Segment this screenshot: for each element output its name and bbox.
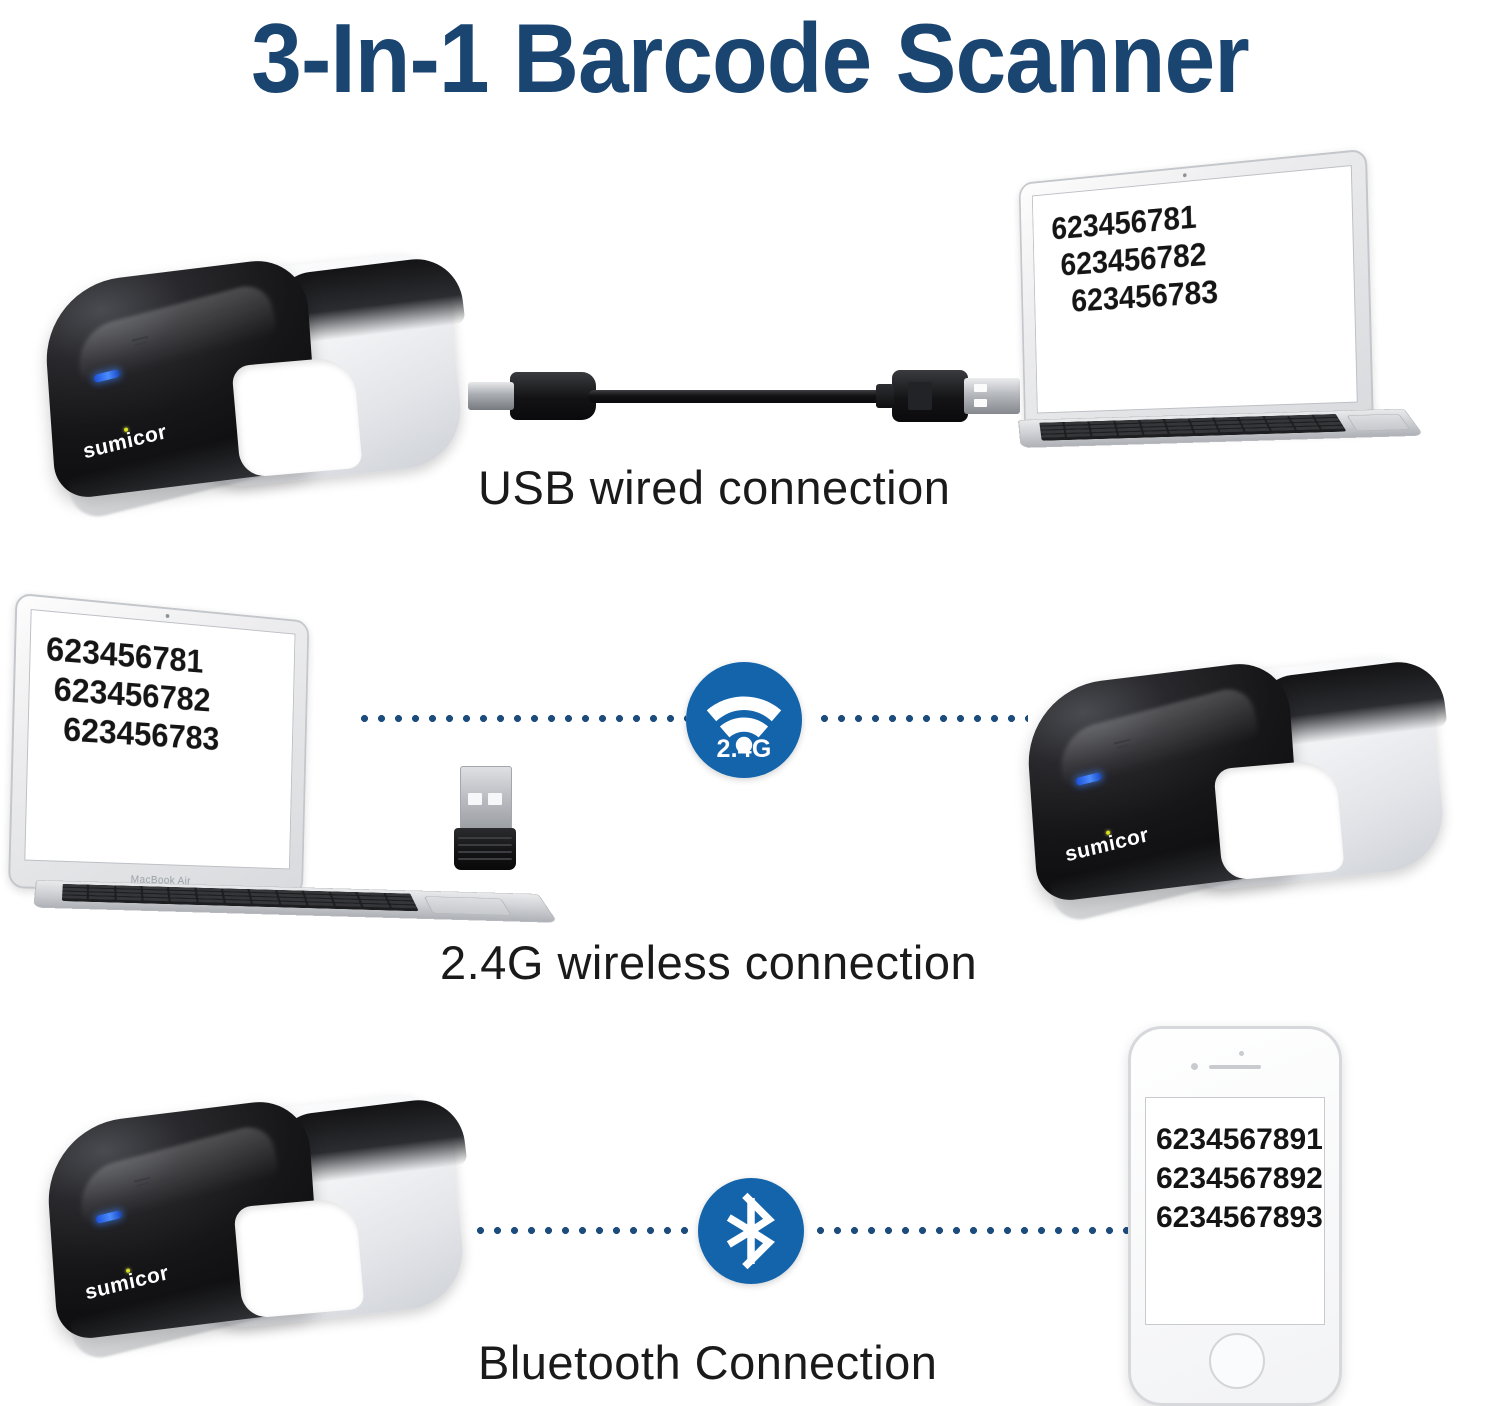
usb-receiver-dongle (454, 766, 516, 870)
laptop-usb: 623456781 623456782 623456783 MacBook Ai… (952, 148, 1422, 488)
usb-cable (468, 362, 1008, 432)
phone-sensor-icon (1239, 1051, 1244, 1056)
laptop-trackpad[interactable] (424, 896, 512, 915)
label-usb-wired-connection: USB wired connection (478, 460, 950, 515)
scanner-body: sumicor (42, 1086, 462, 1336)
dongle-connector (460, 766, 512, 834)
laptop-keyboard (1039, 414, 1346, 441)
label-bluetooth-connection: Bluetooth Connection (478, 1335, 937, 1390)
bluetooth-icon (698, 1178, 804, 1284)
bluetooth-link-dots-left (472, 1226, 692, 1235)
wireless-link-dots-right (816, 714, 1028, 723)
usb-plug-a-collar (876, 384, 894, 408)
dongle-body (454, 828, 516, 870)
laptop-trackpad[interactable] (1346, 414, 1410, 431)
infographic-canvas: 3-In-1 Barcode Scanner sumicor (0, 0, 1500, 1400)
laptop-base (33, 880, 558, 923)
wireless-link-dots-left (356, 714, 686, 723)
phone-camera-icon (1191, 1063, 1198, 1070)
phone-home-button[interactable] (1209, 1333, 1265, 1389)
scanner-body: sumicor (40, 245, 460, 495)
usb-plug-device-tip (468, 382, 514, 410)
phone-barcode-line: 6234567892 (1156, 1159, 1324, 1198)
barcode-scanner-usb: sumicor (40, 245, 460, 495)
bluetooth-link-dots-right (812, 1226, 1130, 1235)
page-title: 3-In-1 Barcode Scanner (53, 2, 1448, 115)
scanner-finger-hole (233, 1197, 364, 1319)
webcam-icon (166, 614, 170, 618)
phone-screen: 6234567891 6234567892 6234567893 (1145, 1097, 1325, 1325)
laptop-lid: 623456781 623456782 623456783 MacBook Ai… (8, 593, 309, 896)
laptop-keyboard (62, 884, 419, 911)
barcode-scanner-wireless: sumicor (1022, 648, 1442, 898)
usb-plug-device-end (510, 372, 596, 420)
smartphone: 6234567891 6234567892 6234567893 (1128, 1026, 1342, 1406)
badge-bluetooth (698, 1178, 804, 1284)
laptop-screen: 623456781 623456782 623456783 (1032, 165, 1358, 413)
phone-barcode-list: 6234567891 6234567892 6234567893 (1146, 1098, 1324, 1237)
phone-barcode-line: 6234567893 (1156, 1198, 1324, 1237)
webcam-icon (1183, 173, 1187, 177)
scanner-body: sumicor (1022, 648, 1442, 898)
badge-2-4g-label: 2.4G (686, 735, 802, 764)
scanner-finger-hole (231, 356, 362, 478)
laptop-lid: 623456781 623456782 623456783 MacBook Ai… (1019, 149, 1374, 440)
laptop-wireless: 623456781 623456782 623456783 MacBook Ai… (0, 592, 560, 932)
badge-2-4g: 2.4G (686, 662, 802, 778)
phone-barcode-line: 6234567891 (1156, 1120, 1324, 1159)
usb-plug-a-window (908, 382, 932, 410)
barcode-scanner-bluetooth: sumicor (42, 1086, 462, 1336)
screen-barcode-list: 623456781 623456782 623456783 (28, 610, 295, 764)
phone-earpiece-icon (1209, 1065, 1261, 1069)
label-2-4g-wireless-connection: 2.4G wireless connection (440, 935, 977, 990)
laptop-screen: 623456781 623456782 623456783 (24, 609, 295, 869)
screen-barcode-list: 623456781 623456782 623456783 (1033, 165, 1358, 322)
scanner-finger-hole (1213, 759, 1344, 881)
usb-cable-wire (588, 390, 908, 403)
